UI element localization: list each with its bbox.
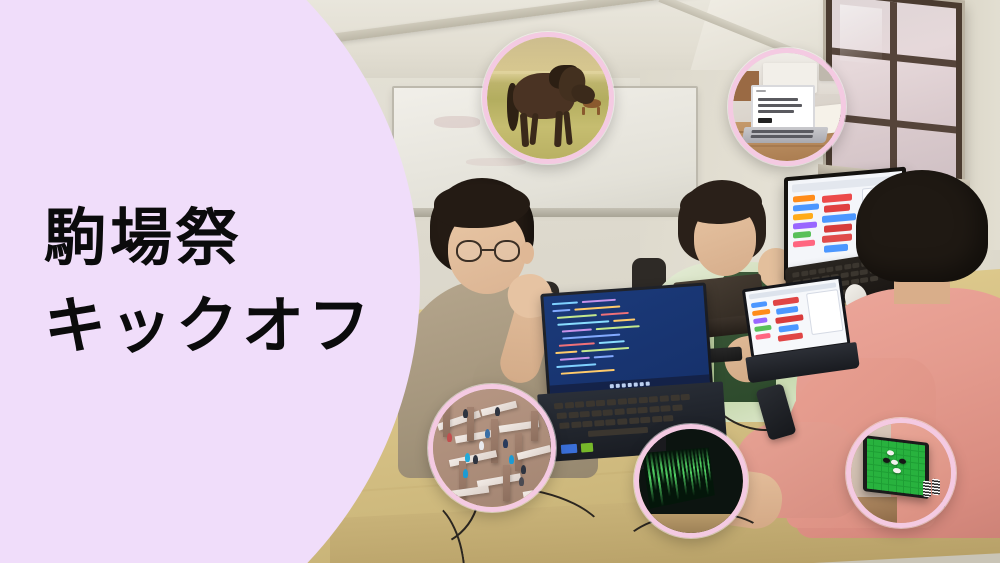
bubble-othello (846, 418, 956, 528)
othello-case (863, 435, 929, 499)
intel-sticker (561, 444, 578, 454)
title-panel (0, 0, 420, 563)
gpu-sticker (581, 443, 594, 453)
code-editor-screen (543, 286, 709, 395)
poster-canvas: 駒場祭 キックオフ (0, 0, 1000, 563)
disc-stack-2 (932, 478, 940, 495)
othello-board (867, 439, 925, 495)
laptop-right (736, 275, 860, 386)
disc-stack-1 (923, 480, 931, 497)
bubble-matrix (634, 424, 748, 538)
person-right-hair (856, 170, 988, 282)
bubble-laptop-desk (728, 48, 846, 166)
window (826, 0, 962, 189)
bubble-horse (482, 32, 614, 164)
bubble-maze (428, 384, 556, 512)
glasses-icon (456, 240, 526, 262)
window-glass (832, 0, 956, 183)
